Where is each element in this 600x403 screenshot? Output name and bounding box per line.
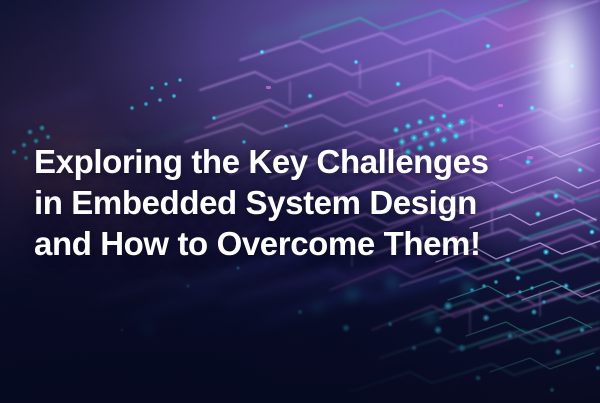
hero-banner: Exploring the Key Challenges in Embedded…	[0, 0, 600, 403]
page-title: Exploring the Key Challenges in Embedded…	[34, 141, 554, 264]
